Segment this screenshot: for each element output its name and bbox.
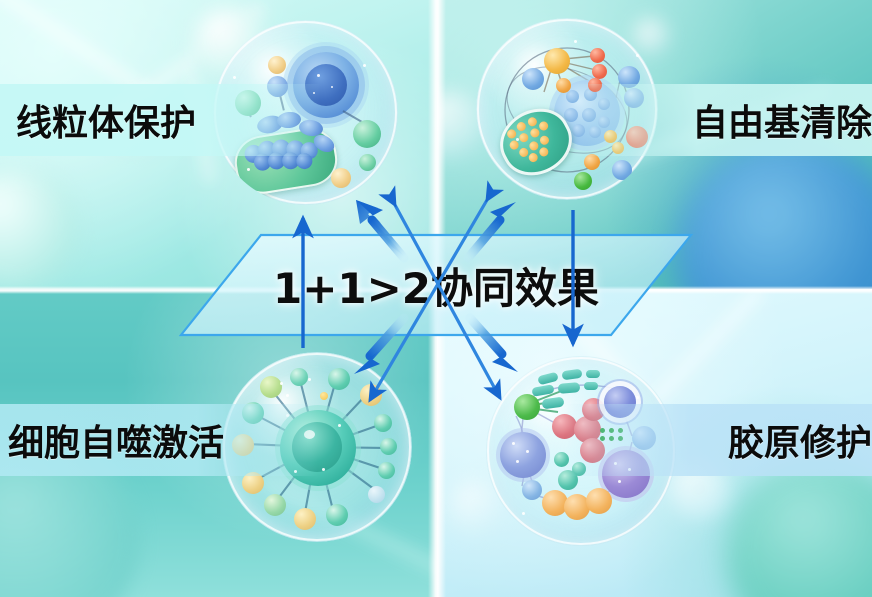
- label-text: 线粒体保护: [16, 94, 196, 146]
- label-text: 自由基清除: [692, 94, 872, 146]
- label-text: 胶原修护: [728, 414, 872, 466]
- arrow-cross-freeradical-autophagy: [370, 200, 487, 400]
- arrow-center-to-freeradical: [468, 202, 516, 258]
- label-mitochondria-protection: 线粒体保护: [0, 84, 321, 156]
- arrow-center-to-collagen: [470, 318, 518, 372]
- label-autophagy-activation: 细胞自噬激活: [0, 404, 318, 476]
- arrow-center-to-mitochondria: [356, 200, 408, 262]
- arrow-center-to-autophagy: [354, 318, 404, 374]
- label-free-radical-scavenging: 自由基清除: [570, 84, 872, 156]
- infographic-canvas: 1+1>2协同效果: [0, 0, 872, 597]
- label-text: 细胞自噬激活: [8, 414, 224, 466]
- label-collagen-repair: 胶原修护: [566, 404, 872, 476]
